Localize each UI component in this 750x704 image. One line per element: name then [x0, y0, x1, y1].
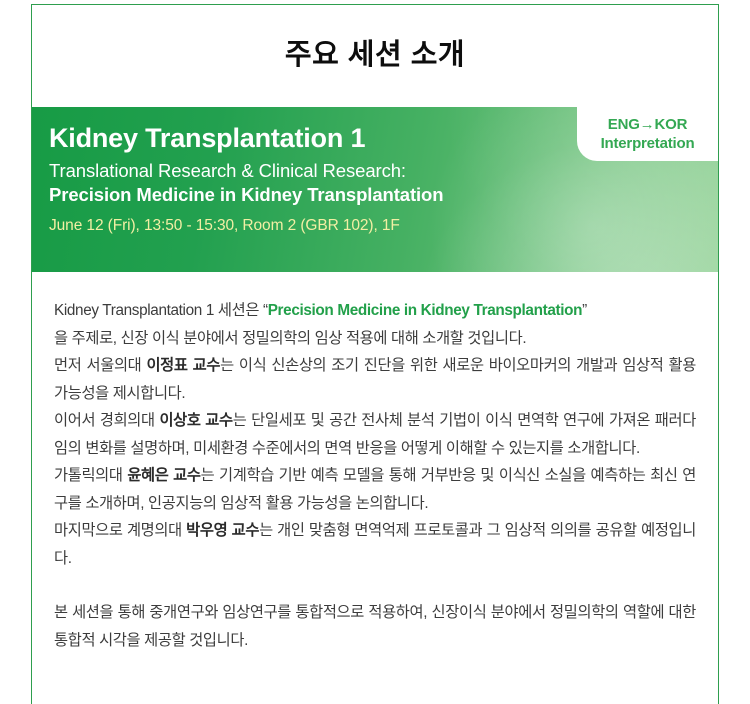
paragraph-overview-line2: 을 주제로, 신장 이식 분야에서 정밀의학의 임상 적용에 대해 소개할 것입…: [54, 325, 696, 353]
session-topic-highlight: Precision Medicine in Kidney Transplanta…: [268, 302, 582, 319]
speaker-3-name: 윤혜은 교수: [127, 467, 200, 484]
speaker-3-prefix: 가톨릭의대: [54, 467, 127, 484]
speaker-1-prefix: 먼저 서울의대: [54, 357, 146, 374]
paragraph-speaker-4: 마지막으로 계명의대 박우영 교수는 개인 맞춤형 면역억제 프로토콜과 그 임…: [54, 517, 696, 572]
session-subtitle-line-2: Precision Medicine in Kidney Transplanta…: [49, 183, 708, 207]
session-banner: Kidney Transplantation 1 Translational R…: [32, 107, 718, 272]
paragraph-speaker-2: 이어서 경희의대 이상호 교수는 단일세포 및 공간 전사체 분석 기법이 이식…: [54, 407, 696, 462]
interpretation-badge: ENG→KOR Interpretation: [577, 107, 718, 161]
interpretation-badge-label: Interpretation: [601, 134, 695, 153]
session-subtitle-line-1: Translational Research & Clinical Resear…: [49, 159, 708, 183]
paragraph-spacer: [54, 572, 696, 599]
interpretation-badge-languages: ENG→KOR: [608, 115, 687, 134]
paragraph-speaker-3: 가톨릭의대 윤혜은 교수는 기계학습 기반 예측 모델을 통해 거부반응 및 이…: [54, 462, 696, 517]
paragraph-conclusion: 본 세션을 통해 중개연구와 임상연구를 통합적으로 적용하여, 신장이식 분야…: [54, 599, 696, 654]
paragraph-speaker-1: 먼저 서울의대 이정표 교수는 이식 신손상의 조기 진단을 위한 새로운 바이…: [54, 352, 696, 407]
session-schedule: June 12 (Fri), 13:50 - 15:30, Room 2 (GB…: [49, 215, 708, 237]
paragraph-overview-lead: Kidney Transplantation 1 세션은 “: [54, 302, 268, 319]
speaker-4-name: 박우영 교수: [186, 522, 259, 539]
speaker-4-prefix: 마지막으로 계명의대: [54, 522, 186, 539]
speaker-1-name: 이정표 교수: [146, 357, 220, 374]
speaker-2-prefix: 이어서 경희의대: [54, 412, 159, 429]
speaker-2-name: 이상호 교수: [159, 412, 232, 429]
page-title: 주요 세션 소개: [32, 0, 718, 103]
paragraph-overview-closing-quote: ”: [582, 302, 587, 319]
paragraph-overview: Kidney Transplantation 1 세션은 “Precision …: [54, 297, 696, 325]
session-description: Kidney Transplantation 1 세션은 “Precision …: [32, 272, 718, 654]
